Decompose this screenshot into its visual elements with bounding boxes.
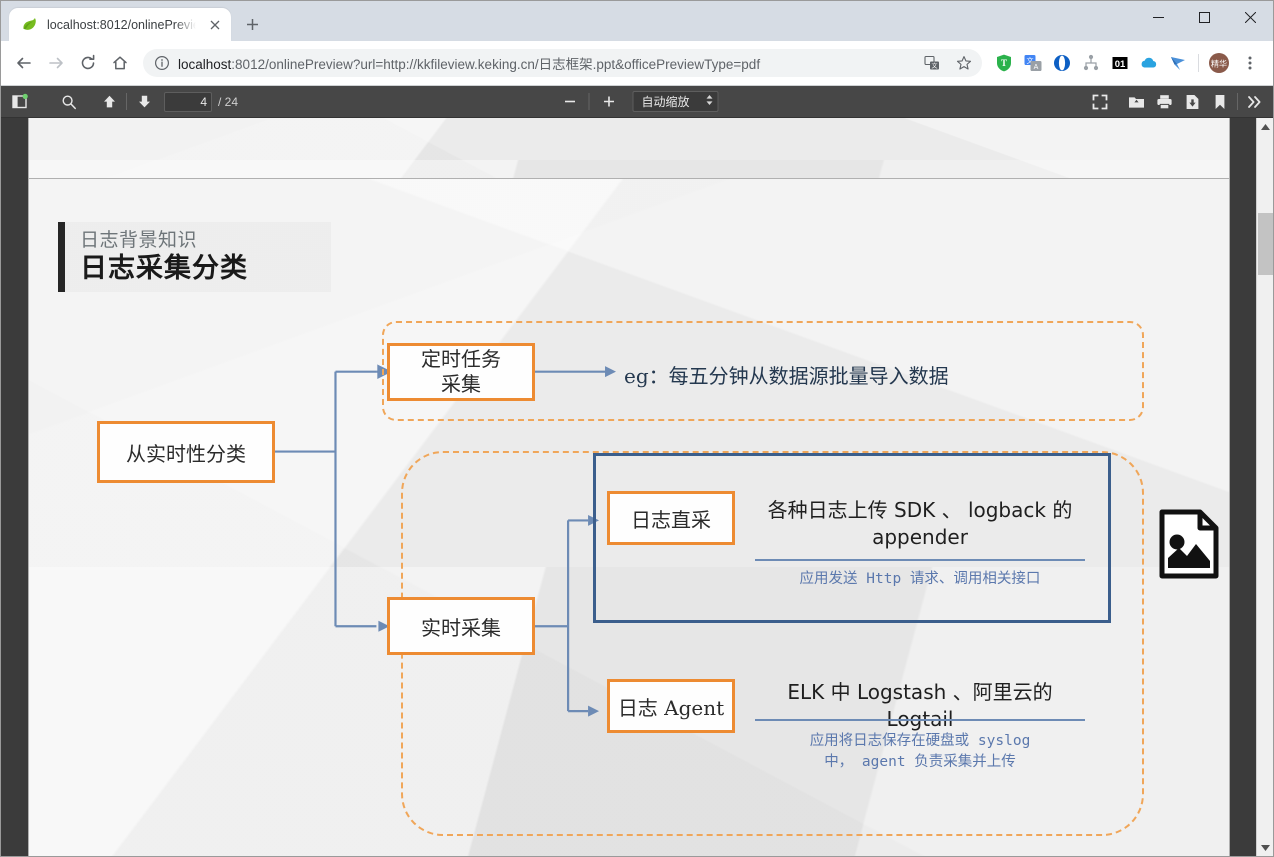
- open-file-icon[interactable]: [1122, 89, 1150, 115]
- agent-main-note: ELK 中 Logstash 、阿里云的 Logtail: [755, 679, 1085, 733]
- sidebar-toggle-icon[interactable]: [5, 89, 33, 115]
- url-host: localhost: [178, 57, 231, 72]
- sitemap-icon[interactable]: [1077, 49, 1105, 77]
- url-rest: :8012/onlinePreview?url=http://kkfilevie…: [231, 57, 760, 72]
- counter-01-icon[interactable]: 01: [1106, 49, 1134, 77]
- browser-window: localhost:8012/onlinePreview?: [0, 0, 1274, 857]
- box-scheduled-label-line1: 定时任务: [421, 347, 501, 372]
- double-chevron-right-icon[interactable]: [1241, 89, 1269, 115]
- translate-icon[interactable]: 文: [920, 51, 944, 75]
- toolbar-divider: [1198, 54, 1199, 72]
- box-root-classification: 从实时性分类: [97, 421, 275, 483]
- tab-title: localhost:8012/onlinePreview?: [47, 18, 196, 32]
- pdf-tools-group: [1086, 89, 1269, 115]
- pdf-viewer-area: 日志背景知识 日志采集分类: [1, 118, 1273, 856]
- zoom-level-label: 自动缩放: [641, 93, 689, 110]
- close-icon[interactable]: [1227, 1, 1273, 33]
- tab-close-icon[interactable]: [205, 15, 225, 35]
- svg-text:文: 文: [931, 62, 937, 70]
- fullscreen-icon[interactable]: [1086, 89, 1114, 115]
- box-log-agent: 日志 Agent: [607, 679, 735, 733]
- box-direct-collection: 日志直采: [607, 491, 735, 545]
- forward-arrow-icon[interactable]: [41, 48, 71, 78]
- google-translate-icon[interactable]: 文A: [1019, 49, 1047, 77]
- scheduled-example-text: eg：每五分钟从数据源批量导入数据: [624, 360, 949, 389]
- page-number-input[interactable]: 4: [164, 92, 212, 112]
- bookmark-icon[interactable]: [1206, 89, 1234, 115]
- reload-icon[interactable]: [73, 48, 103, 78]
- tampermonkey-icon[interactable]: T: [990, 49, 1018, 77]
- previous-page-icon[interactable]: [95, 89, 123, 115]
- svg-text:01: 01: [1115, 59, 1126, 70]
- box-root-label: 从实时性分类: [126, 438, 246, 467]
- box-realtime-label: 实时采集: [421, 612, 501, 641]
- pdf-page-4: 日志背景知识 日志采集分类: [28, 178, 1230, 856]
- search-icon[interactable]: [55, 89, 83, 115]
- zoom-in-icon[interactable]: [594, 89, 622, 115]
- agent-sub-line1: 应用将日志保存在硬盘或 syslog: [755, 731, 1085, 752]
- toolbar-divider: [588, 93, 589, 110]
- jinghua-avatar-icon[interactable]: 精华: [1205, 49, 1233, 77]
- agent-sub-line2: 中， agent 负责采集并上传: [755, 752, 1085, 773]
- kite-icon[interactable]: [1164, 49, 1192, 77]
- svg-text:精华: 精华: [1211, 58, 1227, 68]
- box-direct-label: 日志直采: [631, 504, 711, 533]
- page-info-icon[interactable]: [154, 55, 170, 71]
- three-dots-menu-icon[interactable]: [1235, 48, 1265, 78]
- address-bar[interactable]: localhost:8012/onlinePreview?url=http://…: [143, 49, 982, 77]
- scroll-up-arrow[interactable]: [1257, 118, 1273, 135]
- scrollbar-thumb[interactable]: [1258, 213, 1273, 275]
- back-arrow-icon[interactable]: [9, 48, 39, 78]
- maximize-icon[interactable]: [1181, 1, 1227, 33]
- box-scheduled-collection: 定时任务 采集: [387, 343, 535, 401]
- minimize-icon[interactable]: [1135, 1, 1181, 33]
- scroll-down-arrow[interactable]: [1257, 839, 1273, 856]
- svg-text:A: A: [1034, 64, 1039, 71]
- opera-circle-icon[interactable]: [1048, 49, 1076, 77]
- download-icon[interactable]: [1178, 89, 1206, 115]
- broken-image-placeholder-icon: [1158, 509, 1220, 579]
- star-icon[interactable]: [952, 51, 976, 75]
- vertical-scrollbar[interactable]: [1256, 118, 1273, 856]
- next-page-icon[interactable]: [130, 89, 158, 115]
- window-controls: [1135, 1, 1273, 33]
- svg-text:T: T: [1001, 58, 1007, 68]
- page-count-label: / 24: [218, 95, 238, 109]
- zoom-select[interactable]: 自动缩放: [632, 91, 718, 112]
- direct-main-note: 各种日志上传 SDK 、 logback 的 appender: [755, 497, 1085, 551]
- box-agent-label: 日志 Agent: [618, 692, 724, 721]
- tab-strip: localhost:8012/onlinePreview?: [1, 1, 267, 41]
- box-realtime-collection: 实时采集: [387, 597, 535, 655]
- spring-leaf-icon: [21, 16, 38, 33]
- browser-toolbar: localhost:8012/onlinePreview?url=http://…: [1, 41, 1273, 86]
- zoom-out-icon[interactable]: [555, 89, 583, 115]
- title-bar: localhost:8012/onlinePreview?: [1, 1, 1273, 41]
- cloud-icon[interactable]: [1135, 49, 1163, 77]
- new-tab-button[interactable]: [237, 9, 267, 39]
- url-text: localhost:8012/onlinePreview?url=http://…: [178, 53, 912, 73]
- browser-tab[interactable]: localhost:8012/onlinePreview?: [9, 8, 231, 41]
- toolbar-divider: [1237, 93, 1238, 110]
- extensions-row: T 文A 01 精华: [990, 49, 1233, 77]
- pdf-viewer-toolbar: 4 / 24 自动缩放: [1, 86, 1273, 118]
- print-icon[interactable]: [1150, 89, 1178, 115]
- direct-note-underline: [755, 559, 1085, 561]
- zoom-controls: 自动缩放: [555, 89, 718, 115]
- updown-chevron-icon: [706, 94, 714, 109]
- agent-sub-note: 应用将日志保存在硬盘或 syslog 中， agent 负责采集并上传: [755, 731, 1085, 773]
- pdf-page-container: 日志背景知识 日志采集分类: [1, 118, 1256, 856]
- box-scheduled-label-line2: 采集: [441, 372, 481, 397]
- direct-sub-note: 应用发送 Http 请求、调用相关接口: [745, 569, 1095, 590]
- toolbar-divider: [126, 93, 127, 110]
- home-icon[interactable]: [105, 48, 135, 78]
- agent-note-underline: [755, 719, 1085, 721]
